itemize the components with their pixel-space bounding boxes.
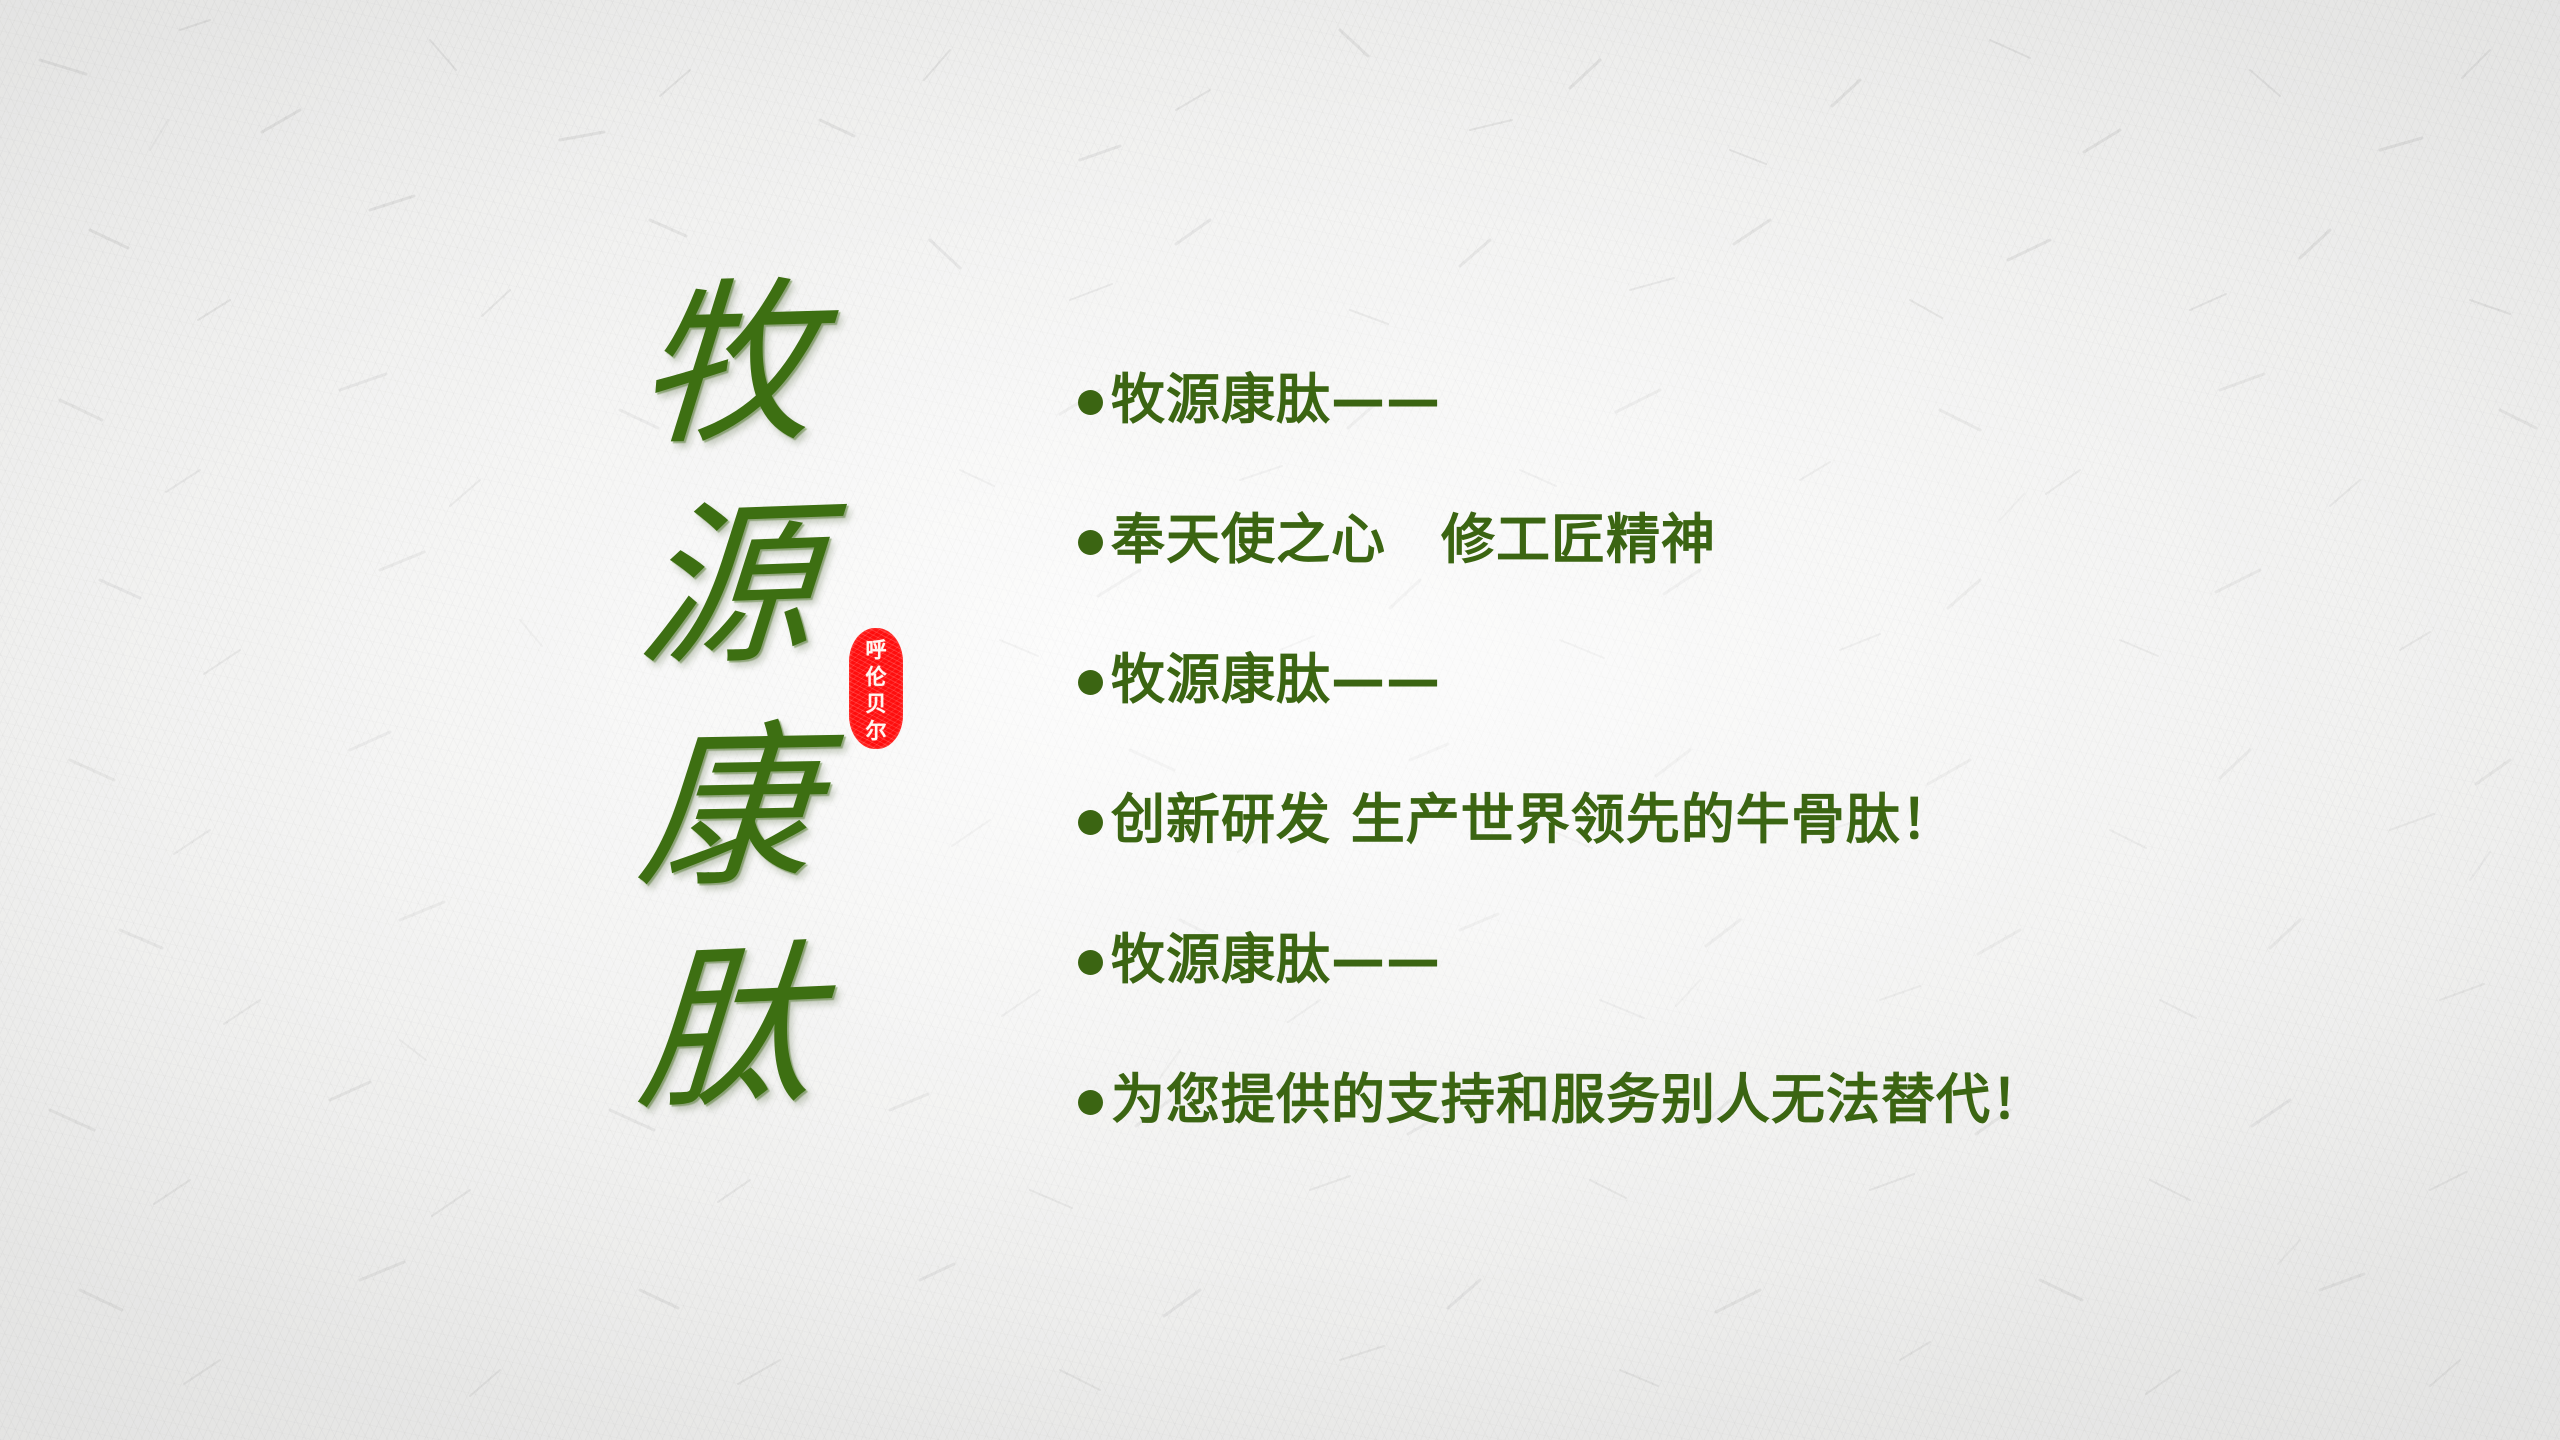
brand-calligraphy-vertical: 牧 源 康 肽 — [632, 278, 822, 1118]
bullet-dot-icon — [1078, 530, 1103, 555]
bullet-row-5: 牧源康肽—— — [1078, 890, 2478, 1030]
slogan-bullet-list: 牧源康肽—— 奉天使之心 修工匠精神 牧源康肽—— 创新研发 生产世界领先的牛骨… — [1078, 330, 2478, 1170]
bullet-row-1: 牧源康肽—— — [1078, 330, 2478, 470]
seal-char-3: 贝 — [866, 691, 887, 717]
bullet-label-2: 奉天使之心 修工匠精神 — [1111, 510, 1716, 569]
bullet-row-2: 奉天使之心 修工匠精神 — [1078, 470, 2478, 610]
slide-canvas: 牧 源 康 肽 呼 伦 贝 尔 牧源康肽—— 奉天使之心 修工匠精神 牧源康肽—… — [0, 0, 2560, 1440]
bullet-label-1: 牧源康肽—— — [1111, 370, 1441, 429]
seal-char-4: 尔 — [866, 718, 887, 744]
bullet-label-6: 为您提供的支持和服务别人无法替代！ — [1111, 1070, 2046, 1129]
bullet-label-4: 创新研发 生产世界领先的牛骨肽！ — [1111, 790, 1956, 849]
bullet-row-3: 牧源康肽—— — [1078, 610, 2478, 750]
bullet-dot-icon — [1078, 950, 1103, 975]
bullet-row-4: 创新研发 生产世界领先的牛骨肽！ — [1078, 750, 2478, 890]
red-seal-stamp: 呼 伦 贝 尔 — [849, 628, 903, 749]
bullet-label-5: 牧源康肽—— — [1111, 930, 1441, 989]
bullet-label-3: 牧源康肽—— — [1111, 650, 1441, 709]
bullet-dot-icon — [1078, 1090, 1103, 1115]
seal-char-1: 呼 — [866, 637, 887, 663]
seal-char-2: 伦 — [866, 664, 887, 690]
brand-glyph-3: 康 — [633, 719, 822, 898]
bullet-dot-icon — [1078, 810, 1103, 835]
brand-glyph-2: 源 — [633, 496, 822, 678]
brand-glyph-1: 牧 — [633, 276, 820, 457]
bullet-dot-icon — [1078, 670, 1103, 695]
bullet-dot-icon — [1078, 390, 1103, 415]
bullet-row-6: 为您提供的支持和服务别人无法替代！ — [1078, 1030, 2478, 1170]
brand-glyph-4: 肽 — [633, 938, 820, 1122]
